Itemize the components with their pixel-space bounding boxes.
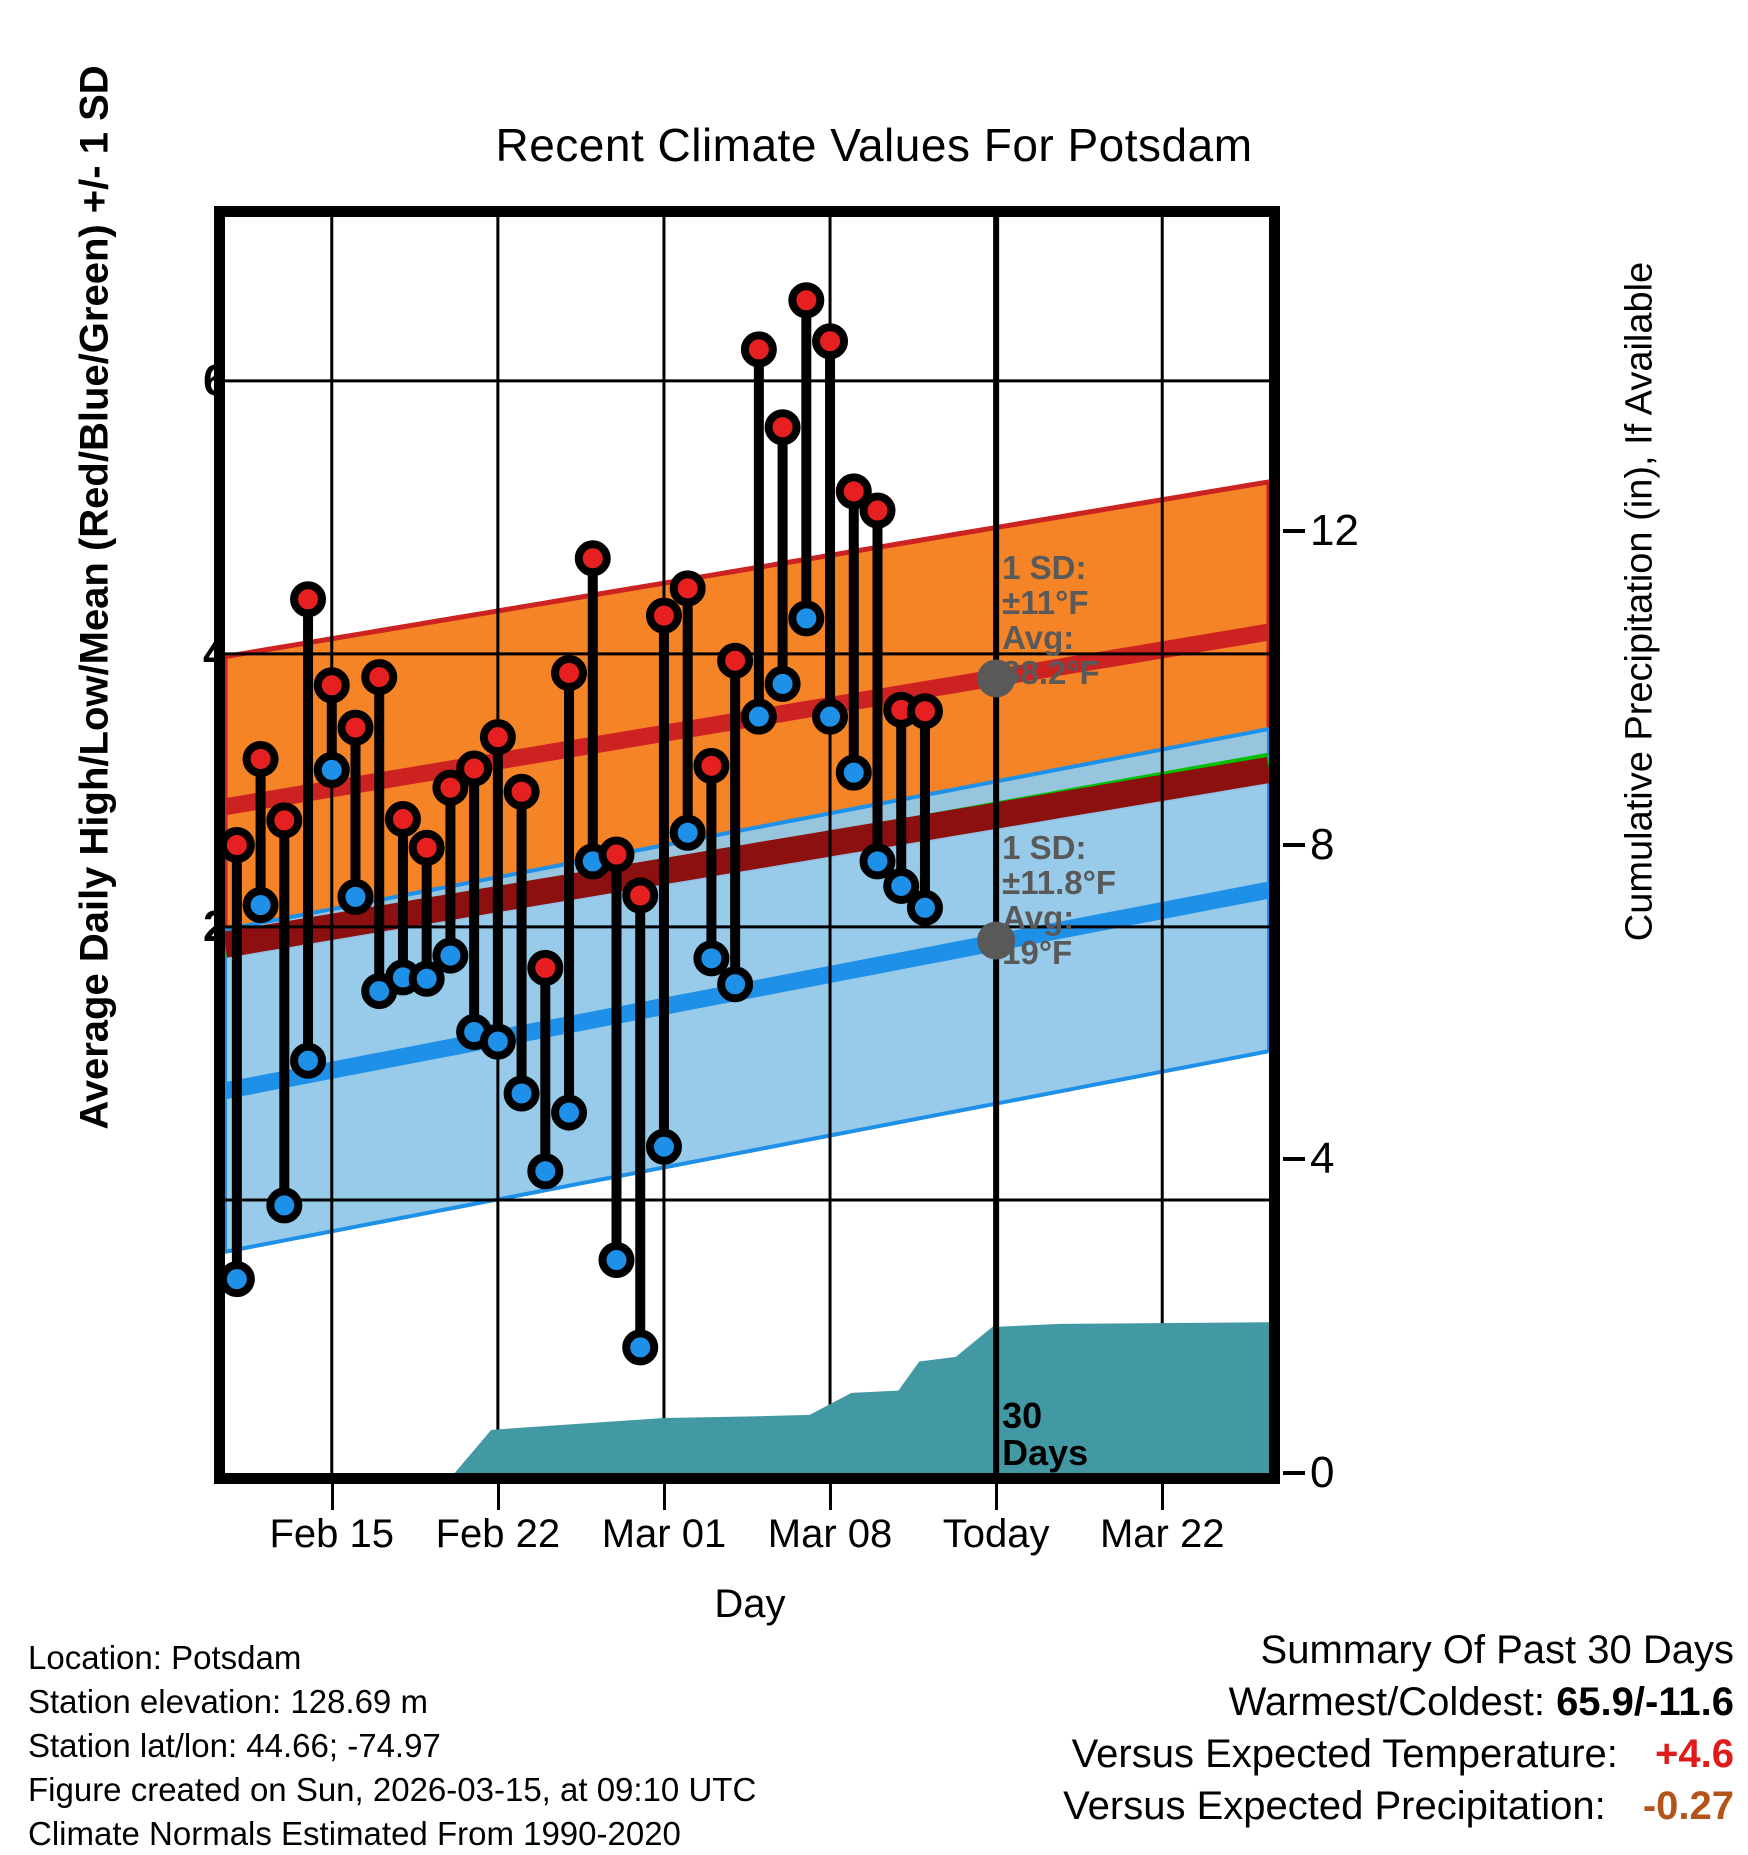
warmest-coldest-value: 65.9/-11.6 xyxy=(1556,1680,1734,1724)
x-axis-tick-mar-08: Mar 08 xyxy=(768,1512,893,1557)
low-normal-annotation: 1 SD: ±11.8°F Avg: 19°F xyxy=(1002,831,1116,971)
vs-temp-label: Versus Expected Temperature: xyxy=(1072,1732,1618,1776)
x-axis-tickmark xyxy=(995,1484,998,1510)
y-axis-right-tickmark xyxy=(1283,1471,1305,1475)
x-axis-tickmark xyxy=(663,1484,666,1510)
x-axis-tick-feb-15: Feb 15 xyxy=(270,1512,395,1557)
x-axis-tickmark xyxy=(331,1484,334,1510)
vs-temp-row: Versus Expected Temperature: +4.6 xyxy=(1063,1728,1734,1780)
y-axis-right-title: Cumulative Precipitation (in), If Availa… xyxy=(1619,52,1662,1152)
high-normal-annotation: 1 SD: ±11°F Avg: 38.2°F xyxy=(1002,551,1100,691)
figure-created: Figure created on Sun, 2026-03-15, at 09… xyxy=(28,1768,756,1812)
summary-title: Summary Of Past 30 Days xyxy=(1063,1624,1734,1676)
warmest-coldest-row: Warmest/Coldest: 65.9/-11.6 xyxy=(1063,1676,1734,1728)
y-axis-right-tick-12: 12 xyxy=(1310,506,1359,556)
x-axis-tick-feb-22: Feb 22 xyxy=(436,1512,561,1557)
y-axis-right-tick-0: 0 xyxy=(1310,1448,1334,1498)
station-location: Location: Potsdam xyxy=(28,1636,756,1680)
y-axis-right-tick-8: 8 xyxy=(1310,820,1334,870)
y-axis-right-tick-4: 4 xyxy=(1310,1134,1334,1184)
y-axis-right-tickmark xyxy=(1283,1157,1305,1161)
climate-normals-period: Climate Normals Estimated From 1990-2020 xyxy=(28,1812,756,1855)
station-elevation: Station elevation: 128.69 m xyxy=(28,1680,756,1724)
page-title: Recent Climate Values For Potsdam xyxy=(0,118,1748,172)
station-latlon: Station lat/lon: 44.66; -74.97 xyxy=(28,1724,756,1768)
chart-plot-area: 1 SD: ±11°F Avg: 38.2°F 1 SD: ±11.8°F Av… xyxy=(214,206,1280,1484)
y-axis-right-tickmark xyxy=(1283,529,1305,533)
y-axis-right-tickmark xyxy=(1283,843,1305,847)
x-axis-tickmark xyxy=(1161,1484,1164,1510)
x-axis-tickmark xyxy=(497,1484,500,1510)
x-axis-tick-mar-22: Mar 22 xyxy=(1100,1512,1225,1557)
y-axis-left-title: Average Daily High/Low/Mean (Red/Blue/Gr… xyxy=(73,48,118,1148)
x-axis-title: Day xyxy=(0,1582,1500,1627)
x-axis-tick-today: Today xyxy=(943,1512,1050,1557)
precip-days-label: 30 Days xyxy=(1002,1397,1088,1472)
x-axis-tickmark xyxy=(829,1484,832,1510)
vs-precip-row: Versus Expected Precipitation: -0.27 xyxy=(1063,1780,1734,1832)
station-info-block: Location: Potsdam Station elevation: 128… xyxy=(28,1636,756,1855)
summary-block: Summary Of Past 30 Days Warmest/Coldest:… xyxy=(1063,1624,1734,1832)
vs-precip-value: -0.27 xyxy=(1617,1784,1734,1828)
x-axis-tick-mar-01: Mar 01 xyxy=(602,1512,727,1557)
warmest-coldest-label: Warmest/Coldest: xyxy=(1229,1680,1545,1724)
vs-precip-label: Versus Expected Precipitation: xyxy=(1063,1784,1606,1828)
vs-temp-value: +4.6 xyxy=(1629,1732,1734,1776)
